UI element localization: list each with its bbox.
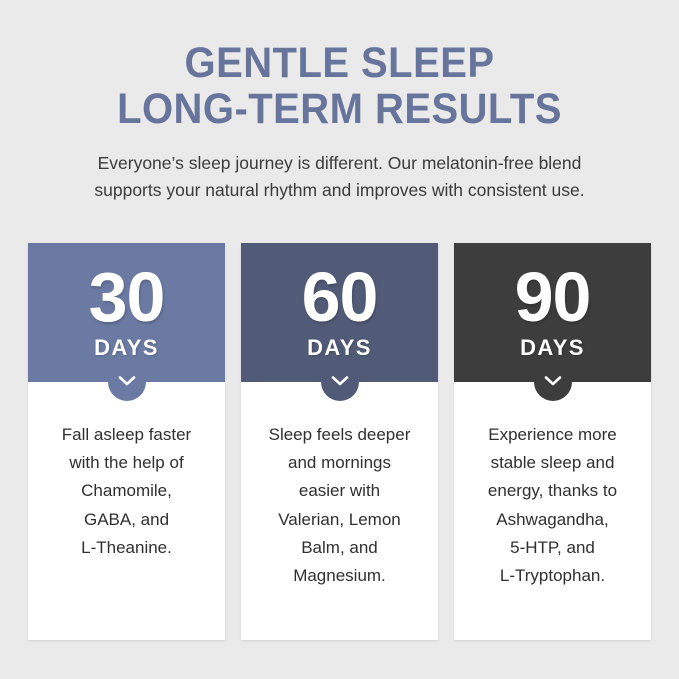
timeline-card-90-days: 90 DAYS Experience more stable sleep and… [454,243,651,640]
card-body-line: Valerian, Lemon [257,506,422,534]
page-title-line-1: GENTLE SLEEP [24,40,655,86]
page-title-line-2: LONG-TERM RESULTS [24,86,655,132]
card-body-line: Fall asleep faster [44,421,209,449]
timeline-cards: 30 DAYS Fall asleep faster with the help… [28,243,651,640]
card-body-line: GABA, and [44,506,209,534]
card-body-line: 5-HTP, and [470,534,635,562]
card-header: 60 DAYS [241,243,438,382]
card-number: 90 [515,264,591,331]
card-body-line: Ashwagandha, [470,506,635,534]
card-body-line: energy, thanks to [470,477,635,505]
card-body-line: L-Theanine. [44,534,209,562]
card-body-line: easier with [257,477,422,505]
chevron-down-icon [321,363,359,401]
card-body-line: Magnesium. [257,562,422,590]
card-body-line: with the help of [44,449,209,477]
card-body-line: stable sleep and [470,449,635,477]
card-unit-label: DAYS [94,335,159,361]
card-number: 30 [89,264,165,331]
card-body-line: and mornings [257,449,422,477]
card-body-line: Balm, and [257,534,422,562]
chevron-down-icon [534,363,572,401]
card-body-line: Experience more [470,421,635,449]
card-unit-label: DAYS [520,335,585,361]
card-unit-label: DAYS [307,335,372,361]
timeline-card-60-days: 60 DAYS Sleep feels deeper and mornings … [241,243,438,640]
card-header: 90 DAYS [454,243,651,382]
card-body-line: L-Tryptophan. [470,562,635,590]
card-body: Fall asleep faster with the help of Cham… [28,382,225,640]
page-title: GENTLE SLEEP LONG-TERM RESULTS [0,0,679,133]
card-body: Sleep feels deeper and mornings easier w… [241,382,438,640]
card-body: Experience more stable sleep and energy,… [454,382,651,640]
card-body-line: Sleep feels deeper [257,421,422,449]
page-subtitle-line-2: supports your natural rhythm and improve… [42,177,637,204]
card-header: 30 DAYS [28,243,225,382]
infographic-page: GENTLE SLEEP LONG-TERM RESULTS Everyone’… [0,0,679,679]
page-subtitle-line-1: Everyone’s sleep journey is different. O… [42,150,637,177]
card-body-line: Chamomile, [44,477,209,505]
page-subtitle: Everyone’s sleep journey is different. O… [0,150,679,204]
card-number: 60 [302,264,378,331]
timeline-card-30-days: 30 DAYS Fall asleep faster with the help… [28,243,225,640]
chevron-down-icon [108,363,146,401]
